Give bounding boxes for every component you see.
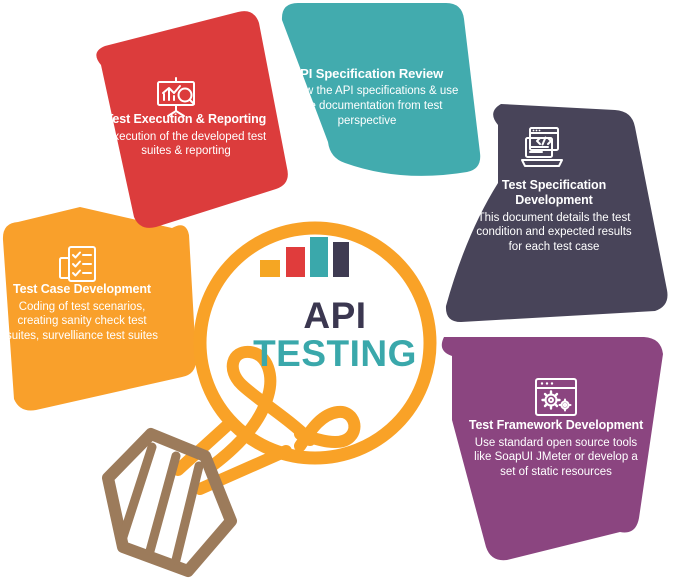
checklist-icon	[58, 244, 100, 284]
segment-text-test-case-development: Test Case Development Coding of test sce…	[2, 282, 162, 344]
segment-title-test-case-development: Test Case Development	[2, 282, 162, 297]
segment-body-test-specification-development: This document details the test condition…	[470, 211, 638, 255]
api-testing-infographic: API TESTING	[0, 0, 680, 582]
segment-body-test-case-development: Coding of test scenarios, creating sanit…	[2, 300, 162, 344]
center-title-testing: TESTING	[205, 333, 465, 375]
segment-text-test-framework-development: Test Framework Development Use standard …	[466, 418, 646, 480]
chart-bar-3	[310, 237, 328, 277]
browser-gears-icon	[532, 376, 580, 420]
segment-title-api-specification-review: API Specification Review	[272, 66, 462, 81]
chart-bar-4	[333, 242, 349, 277]
laptop-code-icon	[518, 126, 568, 170]
bar-chart-icon	[258, 236, 350, 278]
chart-bar-1	[260, 260, 280, 277]
segment-body-test-framework-development: Use standard open source tools like Soap…	[466, 436, 646, 480]
pencil-tip-icon	[108, 434, 231, 571]
segment-title-test-execution-reporting: Test Execution & Reporting	[98, 112, 274, 127]
chart-bar-2	[286, 247, 305, 277]
center-title-api: API	[215, 295, 455, 337]
segment-text-test-execution-reporting: Test Execution & Reporting Execution of …	[98, 112, 274, 159]
segment-text-test-specification-development: Test Specification Development This docu…	[470, 178, 638, 255]
segment-body-test-execution-reporting: Execution of the developed test suites &…	[98, 130, 274, 159]
segment-body-api-specification-review: Review the API specifications & use case…	[272, 84, 462, 128]
segment-title-test-framework-development: Test Framework Development	[466, 418, 646, 433]
segment-text-api-specification-review: API Specification Review Review the API …	[272, 66, 462, 128]
segment-title-test-specification-development: Test Specification Development	[470, 178, 638, 208]
